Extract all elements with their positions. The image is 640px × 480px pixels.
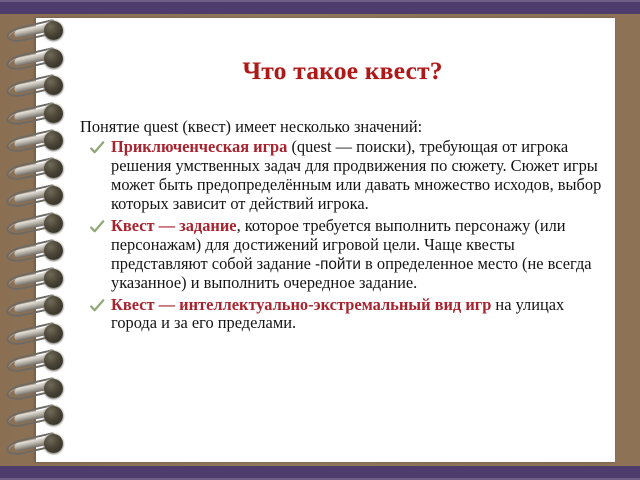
check-icon — [89, 219, 105, 235]
check-icon — [89, 140, 105, 156]
intro-paragraph: Понятие quest (квест) имеет несколько зн… — [80, 117, 605, 136]
definition-list: Приключенческая игра (quest — поиски), т… — [80, 138, 605, 333]
definition-text-inset: -пойти — [315, 256, 361, 273]
list-item: Квест — задание, которое требуется выпол… — [90, 217, 605, 293]
term-label: Квест — задание — [111, 216, 237, 235]
paper-sheet: Что такое квест? Понятие quest (квест) и… — [36, 18, 615, 462]
slide-content: Что такое квест? Понятие quest (квест) и… — [36, 18, 615, 462]
list-item: Приключенческая игра (quest — поиски), т… — [90, 138, 605, 214]
check-icon — [89, 298, 105, 314]
top-frame-bar — [0, 0, 640, 14]
page-title: Что такое квест? — [80, 56, 605, 86]
bottom-frame-bar — [0, 466, 640, 480]
term-label: Приключенческая игра — [111, 137, 287, 156]
term-label: Квест — интеллектуально-экстремальный ви… — [111, 295, 491, 314]
list-item: Квест — интеллектуально-экстремальный ви… — [90, 296, 605, 334]
